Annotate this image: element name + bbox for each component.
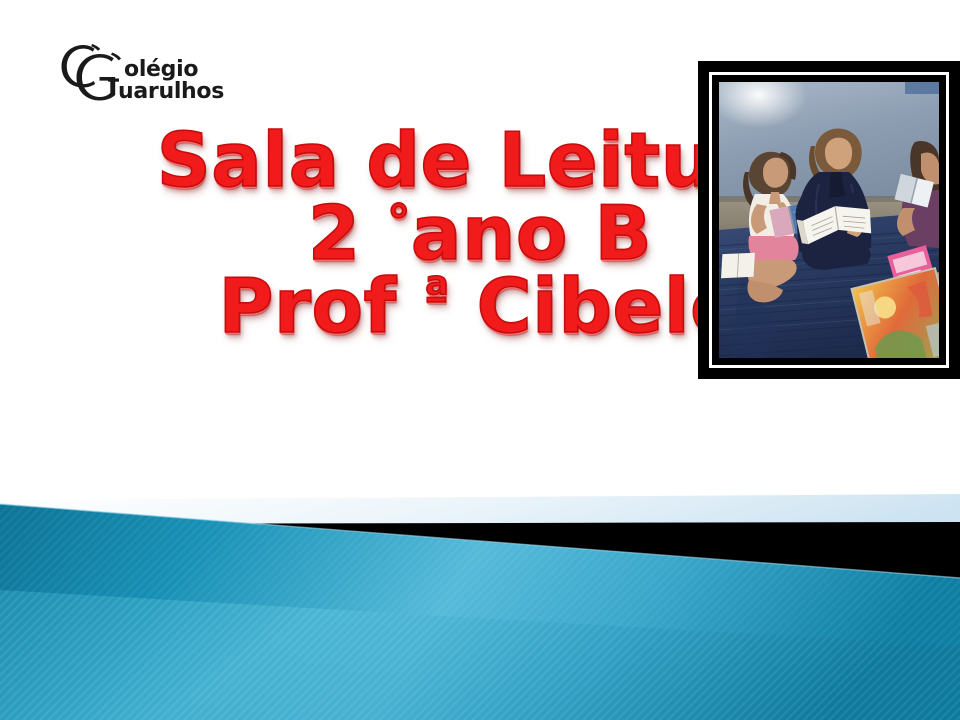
photo-mat [709,72,949,368]
degree-ordinal-icon: ° [387,194,411,248]
school-logo: olégio uarulhos Colégio Guarulhos [52,38,232,110]
grade-suffix: ano B [411,189,652,277]
decorative-band-artwork [0,470,960,720]
svg-text:uarulhos: uarulhos [118,79,224,104]
presentation-slide: olégio uarulhos Colégio Guarulhos Sala d… [0,0,960,720]
feminine-ordinal-icon: ª [423,267,450,321]
grade-prefix: 2 [308,189,387,277]
children-reading-photo [719,82,939,358]
bottom-decorative-bands [0,470,960,720]
photo-frame [698,61,960,379]
teacher-prefix: Prof [219,262,424,350]
photo-artwork [719,82,939,358]
colegio-guarulhos-logo-mark: olégio uarulhos [52,38,232,110]
